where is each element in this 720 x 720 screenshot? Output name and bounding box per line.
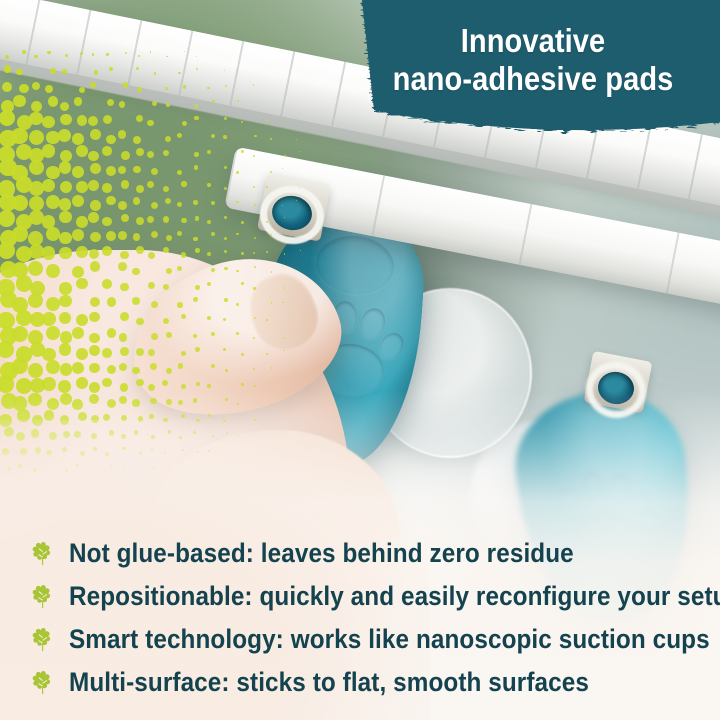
headline-line-2: nano-adhesive pads: [388, 60, 678, 98]
feature-item: Multi-surface: sticks to flat, smooth su…: [28, 661, 708, 704]
green-leaf-icon: [28, 625, 58, 655]
feature-label: Repositionable: quickly and easily recon…: [69, 583, 720, 610]
feature-label: Multi-surface: sticks to flat, smooth su…: [69, 669, 589, 696]
headline-line-1: Innovative: [388, 22, 678, 60]
green-leaf-icon: [28, 668, 58, 698]
feature-label: Smart technology: works like nanoscopic …: [69, 626, 710, 653]
headline-text: Innovative nano-adhesive pads: [388, 22, 678, 97]
green-leaf-icon: [28, 582, 58, 612]
feature-list: Not glue-based: leaves behind zero resid…: [28, 532, 708, 704]
green-leaf-icon: [28, 539, 58, 569]
product-feature-poster: Innovative nano-adhesive pads Not glue-: [0, 0, 720, 720]
feature-item: Not glue-based: leaves behind zero resid…: [28, 532, 708, 575]
feature-item: Smart technology: works like nanoscopic …: [28, 618, 708, 661]
feature-label: Not glue-based: leaves behind zero resid…: [69, 540, 574, 567]
feature-item: Repositionable: quickly and easily recon…: [28, 575, 708, 618]
headline-banner: Innovative nano-adhesive pads: [300, 0, 720, 143]
